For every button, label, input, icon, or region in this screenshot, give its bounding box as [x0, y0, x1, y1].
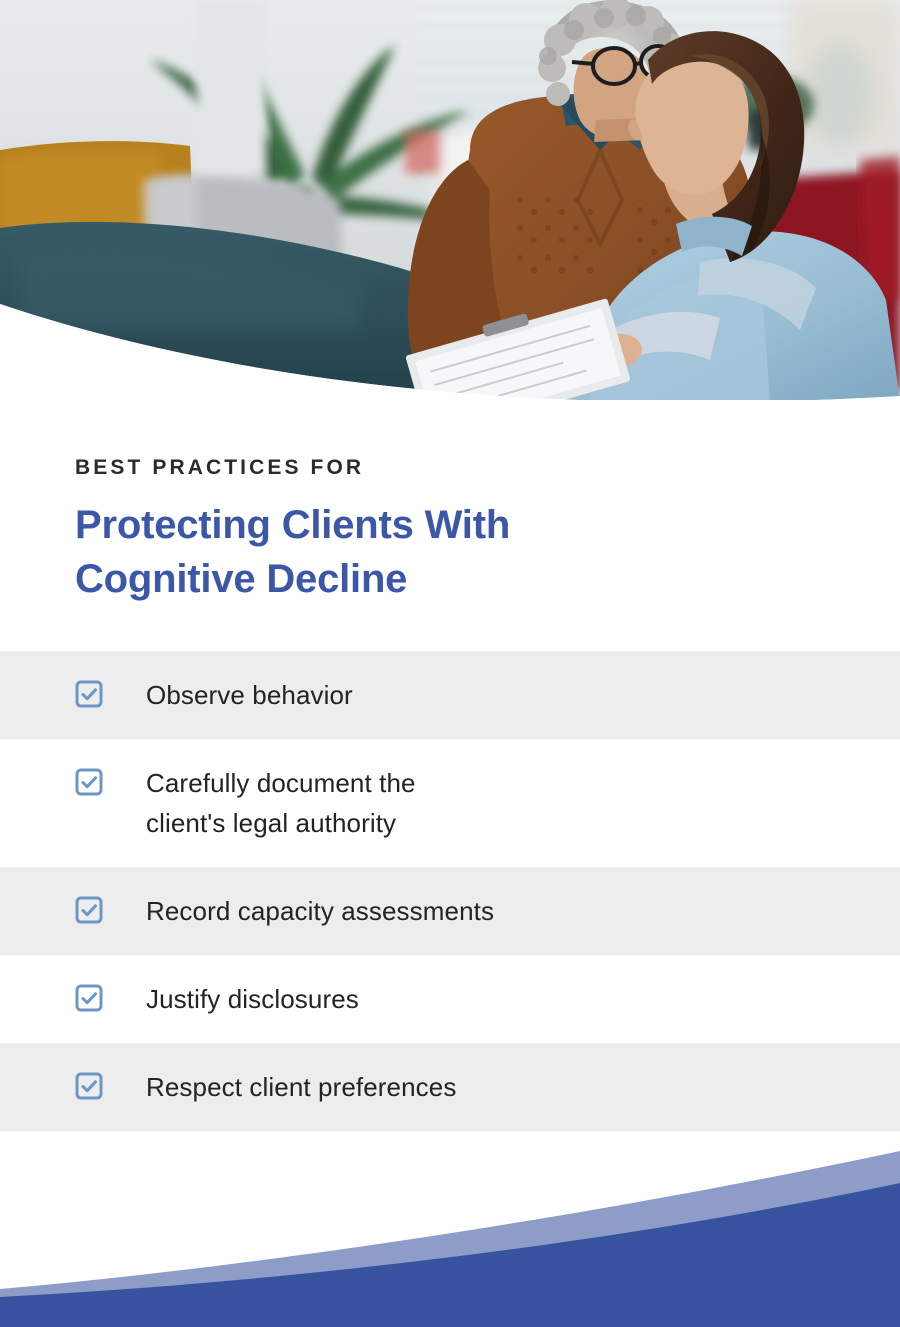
hero-photograph	[0, 0, 900, 400]
checkbox-checked-icon[interactable]	[75, 984, 103, 1012]
checklist-item-label: Justify disclosures	[146, 979, 359, 1019]
title-block: BEST PRACTICES FOR Protecting Clients Wi…	[75, 455, 835, 606]
checklist-item-label: Respect client preferences	[146, 1067, 456, 1107]
hero-image	[0, 0, 900, 400]
checklist-item[interactable]: Justify disclosures	[0, 955, 900, 1043]
checkbox-checked-icon[interactable]	[75, 896, 103, 924]
checklist-item[interactable]: Observe behavior	[0, 651, 900, 739]
checkbox-checked-icon[interactable]	[75, 1072, 103, 1100]
page-title: Protecting Clients With Cognitive Declin…	[75, 498, 635, 606]
checklist-item[interactable]: Respect client preferences	[0, 1043, 900, 1131]
checklist-item-label: Carefully document the client's legal au…	[146, 763, 416, 843]
checklist-item-label: Observe behavior	[146, 675, 353, 715]
best-practices-checklist: Observe behavior Carefully document the …	[0, 651, 900, 1131]
checklist-item[interactable]: Carefully document the client's legal au…	[0, 739, 900, 867]
footer-wave-decoration	[0, 1137, 900, 1327]
checkbox-checked-icon[interactable]	[75, 680, 103, 708]
checklist-item[interactable]: Record capacity assessments	[0, 867, 900, 955]
checkbox-checked-icon[interactable]	[75, 768, 103, 796]
infographic-poster: BEST PRACTICES FOR Protecting Clients Wi…	[0, 0, 900, 1327]
checklist-item-label: Record capacity assessments	[146, 891, 494, 931]
eyebrow-text: BEST PRACTICES FOR	[75, 455, 835, 480]
